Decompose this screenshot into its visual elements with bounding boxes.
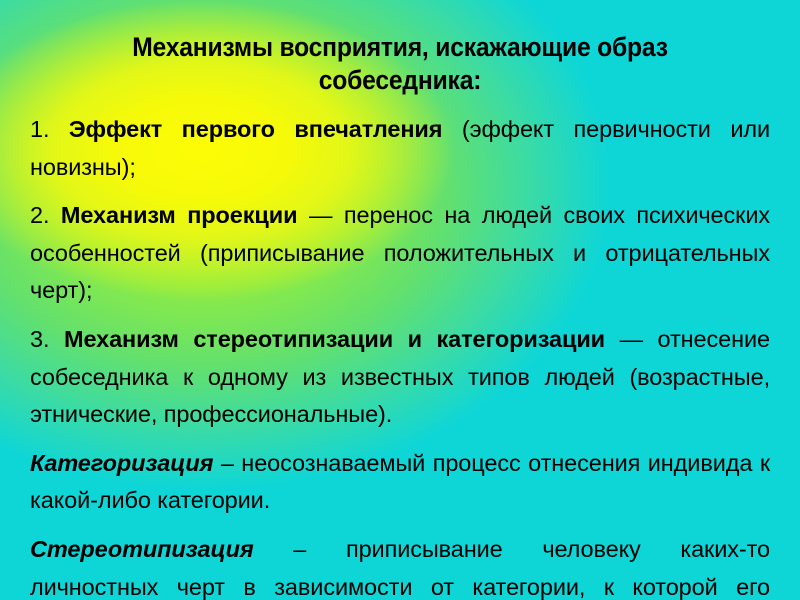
definition-paragraph: Категоризация – неосознаваемый процесс о… [30,434,770,520]
list-item: 3. Механизм стереотипизации и категориза… [30,310,770,434]
definition-paragraph: Стереотипизация – приписывание человеку … [30,520,770,600]
list-item: 2. Механизм проекции — перенос на людей … [30,186,770,310]
list-item-term: Механизм стереотипизации и категоризации [64,326,605,352]
list-item-marker: 2. [30,202,49,228]
definition-term: Категоризация [30,450,213,476]
list-item-term: Механизм проекции [61,202,298,228]
list-item-marker: 3. [30,326,49,352]
list-item: 1. Эффект первого впечатления (эффект пе… [30,97,770,186]
list-item-marker: 1. [30,116,49,142]
list-item-term: Эффект первого впечатления [69,116,442,142]
presentation-slide: Механизмы восприятия, искажающие образ с… [0,0,800,600]
page-title: Механизмы восприятия, искажающие образ с… [56,0,744,97]
slide-content: Механизмы восприятия, искажающие образ с… [0,0,800,600]
definition-term: Стереотипизация [30,536,254,562]
